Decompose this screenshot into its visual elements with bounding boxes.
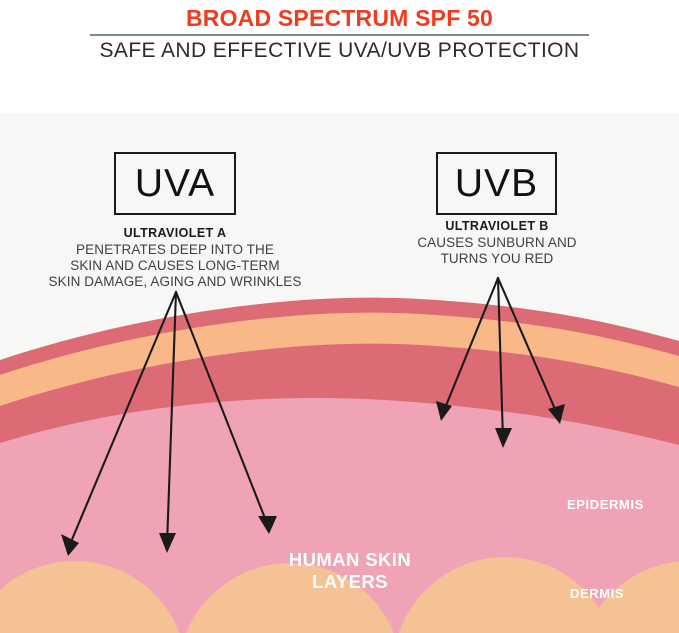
uvb-badge: UVB bbox=[436, 152, 557, 215]
uva-caption-line-2: SKIN AND CAUSES LONG-TERM bbox=[25, 258, 325, 274]
uvb-badge-label: UVB bbox=[455, 164, 538, 203]
header-band: BROAD SPECTRUM SPF 50 SAFE AND EFFECTIVE… bbox=[0, 0, 679, 113]
label-epidermis: EPIDERMIS bbox=[567, 497, 644, 512]
page-title: BROAD SPECTRUM SPF 50 bbox=[0, 5, 679, 32]
human-skin-line-2: LAYERS bbox=[312, 571, 388, 592]
uva-caption-line-1: PENETRATES DEEP INTO THE bbox=[25, 242, 325, 258]
human-skin-line-1: HUMAN SKIN bbox=[289, 549, 411, 570]
uvb-caption-heading: ULTRAVIOLET B bbox=[378, 219, 616, 233]
infographic-canvas: BROAD SPECTRUM SPF 50 SAFE AND EFFECTIVE… bbox=[0, 0, 679, 633]
uvb-caption-line-1: CAUSES SUNBURN AND bbox=[378, 235, 616, 251]
uva-badge-label: UVA bbox=[135, 164, 215, 203]
uvb-caption: ULTRAVIOLET B CAUSES SUNBURN AND TURNS Y… bbox=[378, 219, 616, 267]
skin-diagram-panel: EPIDERMIS DERMIS HUMAN SKIN LAYERS bbox=[0, 113, 679, 633]
uva-caption-heading: ULTRAVIOLET A bbox=[25, 226, 325, 240]
uvb-caption-line-2: TURNS YOU RED bbox=[378, 251, 616, 267]
label-human-skin-layers: HUMAN SKIN LAYERS bbox=[255, 549, 445, 593]
uva-caption: ULTRAVIOLET A PENETRATES DEEP INTO THE S… bbox=[25, 226, 325, 290]
label-dermis: DERMIS bbox=[570, 586, 624, 601]
uva-badge: UVA bbox=[114, 152, 236, 215]
page-subtitle: SAFE AND EFFECTIVE UVA/UVB PROTECTION bbox=[0, 39, 679, 63]
uva-caption-line-3: SKIN DAMAGE, AGING AND WRINKLES bbox=[25, 274, 325, 290]
title-divider bbox=[90, 34, 589, 36]
